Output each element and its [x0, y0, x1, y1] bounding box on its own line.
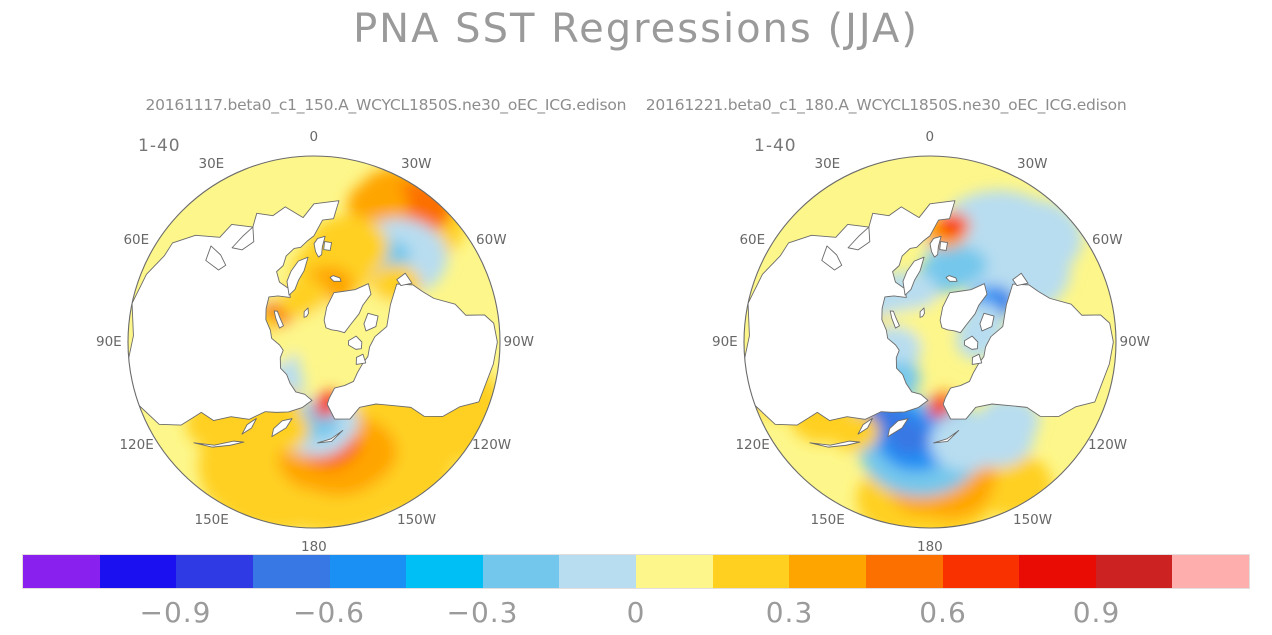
lon-label-30W: 30W: [1017, 156, 1048, 172]
polar-projection-svg: [734, 146, 1126, 538]
lon-label-120E: 120E: [119, 437, 153, 453]
colorbar-swatch-3: [253, 555, 330, 588]
colorbar-tick-6: 0.9: [1073, 596, 1121, 629]
colorbar-tick-4: 0.3: [766, 596, 814, 629]
lon-label-120W: 120W: [472, 437, 511, 453]
coastline-ireland: [324, 242, 332, 251]
colorbar-swatch-12: [943, 555, 1020, 588]
colorbar-swatch-10: [789, 555, 866, 588]
page-title: PNA SST Regressions (JJA): [0, 6, 1272, 52]
lon-label-0: 0: [926, 129, 935, 145]
lon-label-60E: 60E: [123, 232, 149, 248]
colorbar-tick-0: −0.9: [140, 596, 212, 629]
lon-label-30E: 30E: [815, 156, 841, 172]
coastline-ireland: [940, 242, 948, 251]
colorbar-swatch-1: [100, 555, 177, 588]
lon-label-120E: 120E: [735, 437, 769, 453]
colorbar[interactable]: [22, 554, 1250, 589]
colorbar-tick-3: 0: [627, 596, 646, 629]
lon-label-150W: 150W: [1013, 512, 1052, 528]
colorbar-tick-2: −0.3: [447, 596, 519, 629]
colorbar-swatch-14: [1096, 555, 1173, 588]
lon-label-0: 0: [310, 129, 319, 145]
colorbar-swatch-9: [713, 555, 790, 588]
case-name-left: 20161117.beta0_c1_150.A_WCYCL1850S.ne30_…: [145, 96, 626, 114]
lon-label-30E: 30E: [199, 156, 225, 172]
lon-label-90E: 90E: [96, 334, 122, 350]
map-panel-right[interactable]: 1-40 180150W150E120W120E90W90E60W60E30W3…: [676, 128, 1212, 538]
lon-label-60W: 60W: [1092, 232, 1123, 248]
colorbar-swatch-2: [176, 555, 253, 588]
lon-label-60E: 60E: [739, 232, 765, 248]
lon-label-90E: 90E: [712, 334, 738, 350]
lon-label-120W: 120W: [1088, 437, 1127, 453]
polar-map-right[interactable]: 180150W150E120W120E90W90E60W60E30W30E0: [734, 146, 1154, 538]
colorbar-tick-1: −0.6: [293, 596, 365, 629]
lon-label-180: 180: [917, 539, 943, 555]
colorbar-swatch-0: [23, 555, 100, 588]
lon-label-30W: 30W: [401, 156, 432, 172]
lon-label-90W: 90W: [1120, 334, 1151, 350]
polar-map-left[interactable]: 180150W150E120W120E90W90E60W60E30W30E0: [118, 146, 538, 538]
colorbar-swatch-13: [1019, 555, 1096, 588]
case-name-right: 20161221.beta0_c1_180.A_WCYCL1850S.ne30_…: [646, 96, 1127, 114]
lon-label-180: 180: [301, 539, 327, 555]
map-panel-left[interactable]: 1-40 180150W150E120W120E90W90E60W60E30W3…: [60, 128, 596, 538]
case-name-strip: 20161117.beta0_c1_150.A_WCYCL1850S.ne30_…: [0, 96, 1272, 114]
colorbar-swatch-11: [866, 555, 943, 588]
colorbar-tick-labels: −0.9−0.6−0.300.30.60.9: [0, 596, 1272, 632]
colorbar-swatch-7: [559, 555, 636, 588]
polar-projection-svg: [118, 146, 510, 538]
colorbar-swatch-8: [636, 555, 713, 588]
colorbar-swatch-5: [406, 555, 483, 588]
lon-label-60W: 60W: [476, 232, 507, 248]
colorbar-swatch-15: [1172, 555, 1249, 588]
colorbar-tick-5: 0.6: [919, 596, 967, 629]
lon-label-90W: 90W: [504, 334, 535, 350]
lon-label-150E: 150E: [195, 512, 229, 528]
lon-label-150E: 150E: [811, 512, 845, 528]
colorbar-swatch-6: [483, 555, 560, 588]
colorbar-swatch-4: [330, 555, 407, 588]
lon-label-150W: 150W: [397, 512, 436, 528]
